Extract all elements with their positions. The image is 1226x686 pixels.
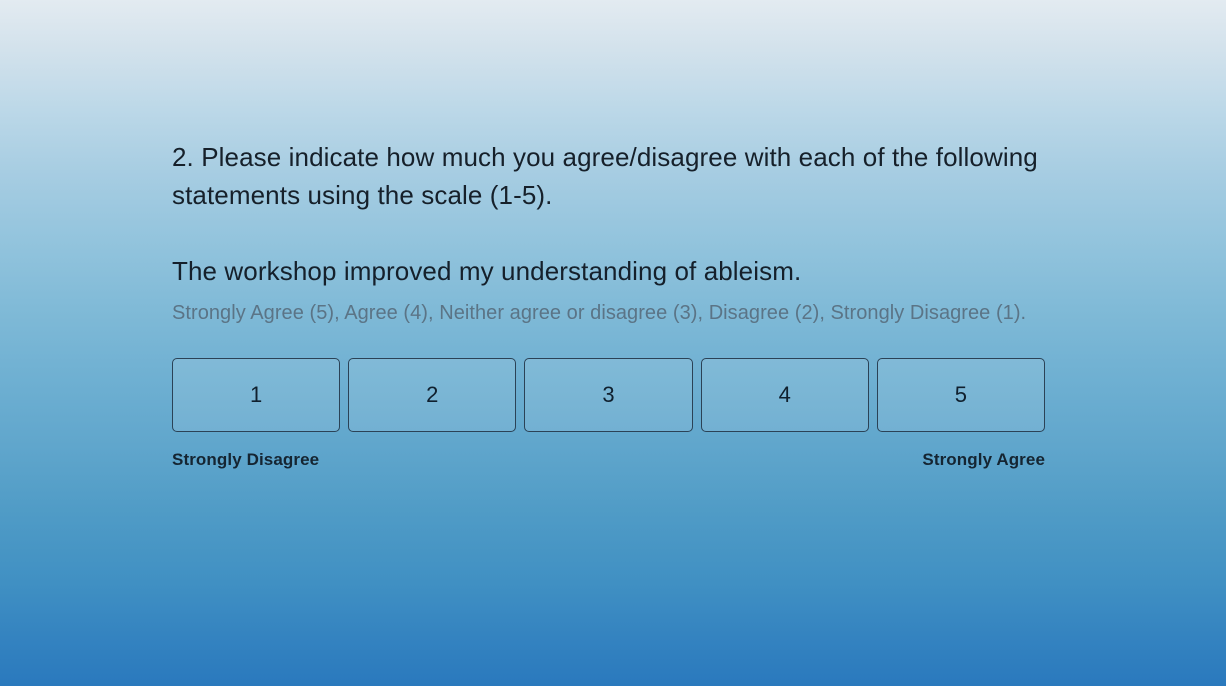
anchor-label-low: Strongly Disagree (172, 450, 319, 470)
survey-page: 2. Please indicate how much you agree/di… (0, 0, 1226, 686)
question-prompt: 2. Please indicate how much you agree/di… (172, 138, 1045, 214)
question-block: 2. Please indicate how much you agree/di… (172, 138, 1045, 470)
rating-option-4[interactable]: 4 (701, 358, 869, 432)
anchor-label-high: Strongly Agree (922, 450, 1045, 470)
statement-text: The workshop improved my understanding o… (172, 214, 1045, 288)
rating-option-3[interactable]: 3 (524, 358, 692, 432)
rating-option-1[interactable]: 1 (172, 358, 340, 432)
rating-scale: 1 2 3 4 5 (172, 330, 1045, 432)
scale-legend: Strongly Agree (5), Agree (4), Neither a… (172, 288, 1045, 330)
rating-option-5[interactable]: 5 (877, 358, 1045, 432)
scale-anchors: Strongly Disagree Strongly Agree (172, 432, 1045, 470)
rating-option-2[interactable]: 2 (348, 358, 516, 432)
